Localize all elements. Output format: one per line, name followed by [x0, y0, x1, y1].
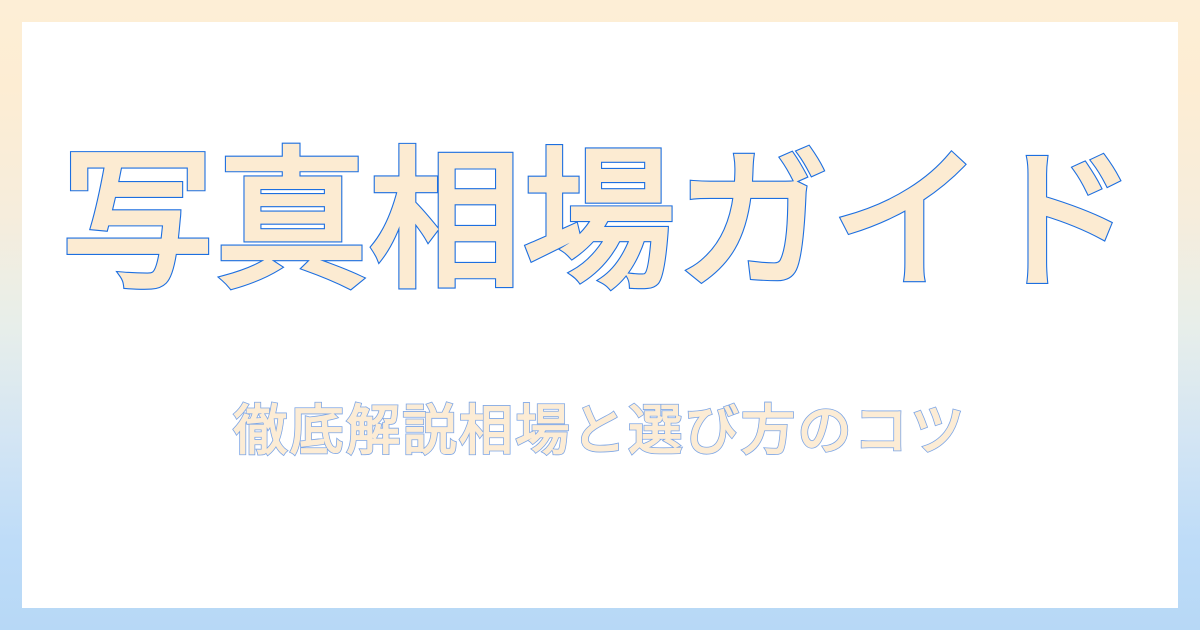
subtitle-container: 徹底解説相場と選び方のコツ: [22, 402, 1178, 460]
page-subtitle: 徹底解説相場と選び方のコツ: [233, 402, 967, 460]
gradient-frame: 写真相場ガイド 徹底解説相場と選び方のコツ: [0, 0, 1200, 630]
page-title: 写真相場ガイド: [62, 146, 1139, 298]
title-container: 写真相場ガイド: [22, 146, 1178, 298]
title-card: 写真相場ガイド 徹底解説相場と選び方のコツ: [22, 22, 1178, 608]
